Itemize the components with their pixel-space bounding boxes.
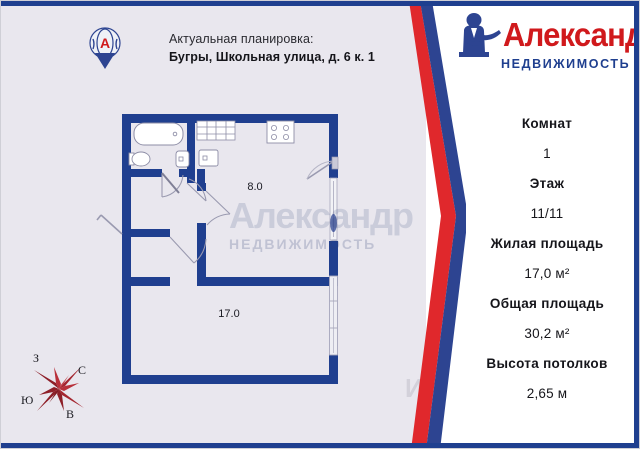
ceiling-height-label: Высота потолков: [467, 349, 627, 379]
right-border-rule: [634, 1, 639, 449]
header-text: Актуальная планировка: Бугры, Школьная у…: [169, 30, 399, 67]
info-row-total-area: Общая площадь 30,2 м²: [467, 289, 627, 349]
info-row-floor: Этаж 11/11: [467, 169, 627, 229]
window-icon: [330, 276, 338, 355]
floor-plan-listing-card: 8.0 17.0 Александр НЕДВИЖИМОСТЬ ИЖ A Акт…: [0, 0, 640, 449]
logo-tagline: НЕДВИЖИМОСТЬ: [501, 57, 630, 71]
compass-label-west: З: [33, 351, 39, 366]
compass-rose: С Ю В З: [19, 349, 105, 431]
living-room-area-label: 17.0: [218, 308, 239, 320]
stove-icon: [267, 121, 294, 143]
compass-label-east: В: [66, 407, 74, 422]
tile-grid-icon: [197, 121, 235, 140]
living-area-value: 17,0 м²: [467, 259, 627, 289]
top-border-rule: [1, 1, 640, 6]
rooms-label: Комнат: [467, 109, 627, 139]
header-address: Бугры, Школьная улица, д. 6 к. 1: [169, 48, 399, 67]
floor-value: 11/11: [467, 199, 627, 229]
compass-label-south: Ю: [21, 393, 33, 408]
kitchen-area-label: 8.0: [247, 181, 262, 193]
toilet-icon: [129, 152, 150, 166]
brand-logo: Александр НЕДВИЖИМОСТЬ: [447, 9, 637, 83]
info-row-rooms: Комнат 1: [467, 109, 627, 169]
compass-label-north: С: [78, 363, 86, 378]
washbasin-icon: [199, 150, 218, 166]
rooms-value: 1: [467, 139, 627, 169]
living-area-label: Жилая площадь: [467, 229, 627, 259]
plan-walls: [122, 114, 338, 384]
compass-star-icon: [19, 349, 105, 431]
total-area-label: Общая площадь: [467, 289, 627, 319]
svg-text:A: A: [100, 35, 110, 51]
bottom-border-rule: [1, 443, 640, 448]
balcony-door-icon: [330, 178, 337, 240]
floor-label: Этаж: [467, 169, 627, 199]
map-pin-icon: A: [89, 27, 121, 71]
info-row-ceiling-height: Высота потолков 2,65 м: [467, 349, 627, 409]
header-subtitle: Актуальная планировка:: [169, 30, 399, 48]
info-row-living-area: Жилая площадь 17,0 м²: [467, 229, 627, 289]
total-area-value: 30,2 м²: [467, 319, 627, 349]
property-info-panel: Комнат 1 Этаж 11/11 Жилая площадь 17,0 м…: [467, 109, 627, 409]
ceiling-height-value: 2,65 м: [467, 379, 627, 409]
sink-icon: [176, 151, 189, 167]
bathtub-icon: [134, 123, 183, 145]
logo-brand-name: Александр: [503, 17, 640, 54]
realtor-figure-icon: [447, 11, 503, 67]
